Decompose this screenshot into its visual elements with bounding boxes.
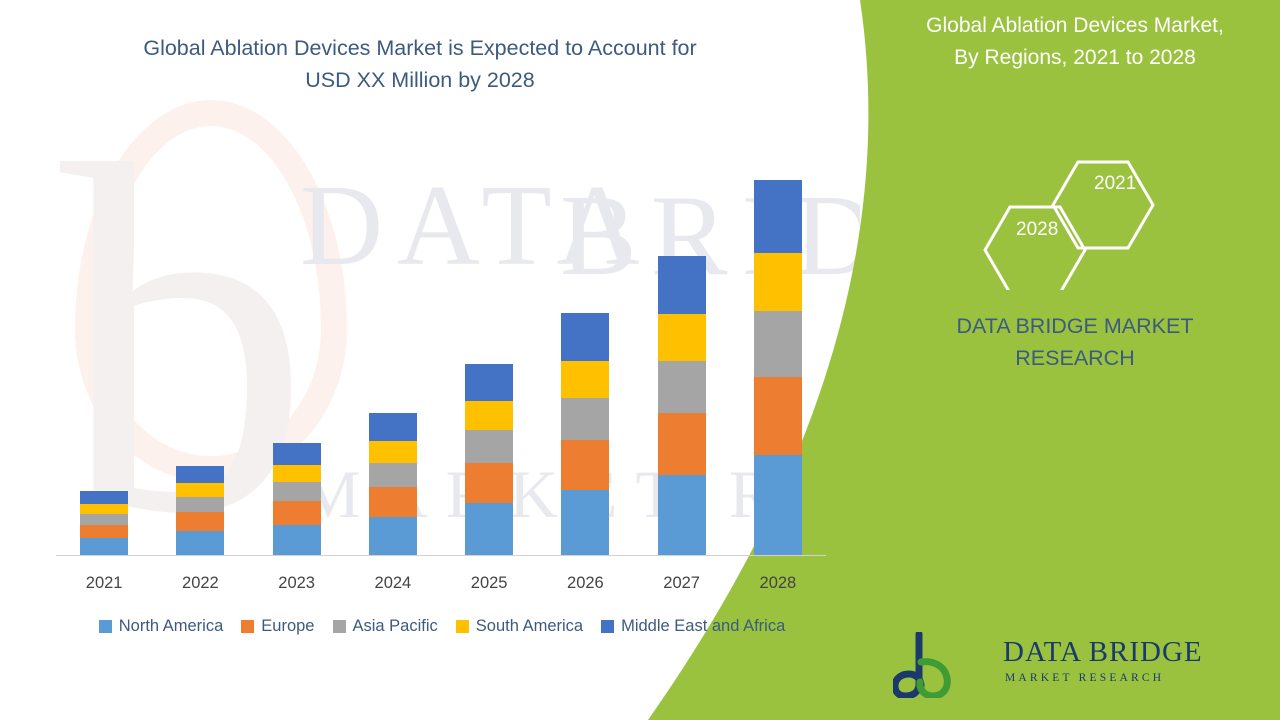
bar-segment[interactable] (80, 491, 128, 504)
legend-swatch-icon (456, 620, 469, 633)
legend-swatch-icon (601, 620, 614, 633)
legend-item[interactable]: South America (456, 617, 583, 636)
bar-segment[interactable] (369, 487, 417, 517)
bar-segment[interactable] (273, 501, 321, 525)
legend-item[interactable]: Middle East and Africa (601, 617, 785, 636)
bar-group[interactable] (465, 364, 513, 555)
legend-label: Asia Pacific (353, 617, 438, 636)
bar-segment[interactable] (176, 466, 224, 483)
bar-segment[interactable] (561, 490, 609, 555)
panel-title-line1: Global Ablation Devices Market, (926, 14, 1224, 37)
bar-segment[interactable] (658, 256, 706, 314)
legend-label: North America (119, 617, 224, 636)
legend-item[interactable]: Europe (241, 617, 314, 636)
bar-group[interactable] (80, 491, 128, 555)
chart-title-line1: Global Ablation Devices Market is Expect… (143, 36, 696, 60)
logo-mark-icon (893, 632, 988, 698)
logo-text: DATA BRIDGE (1003, 636, 1203, 669)
x-axis-tick-label: 2026 (540, 574, 630, 593)
bar-segment[interactable] (176, 483, 224, 497)
bar-group[interactable] (754, 180, 802, 555)
bar-segment[interactable] (176, 531, 224, 555)
x-axis-tick-label: 2022 (155, 574, 245, 593)
bar-chart-plot (56, 150, 826, 556)
bar-segment[interactable] (561, 361, 609, 398)
bar-group[interactable] (176, 466, 224, 555)
x-axis-tick-label: 2025 (444, 574, 534, 593)
x-axis-tick-label: 2021 (59, 574, 149, 593)
legend-label: South America (476, 617, 583, 636)
brand-name-line1: DATA BRIDGE MARKET (957, 314, 1194, 338)
bar-segment[interactable] (561, 398, 609, 440)
bar-segment[interactable] (754, 455, 802, 555)
bar-segment[interactable] (176, 497, 224, 512)
bar-segment[interactable] (273, 465, 321, 482)
bar-segment[interactable] (658, 475, 706, 555)
legend-swatch-icon (333, 620, 346, 633)
bar-group[interactable] (658, 256, 706, 555)
bar-segment[interactable] (754, 253, 802, 311)
legend-item[interactable]: Asia Pacific (333, 617, 438, 636)
bar-segment[interactable] (658, 413, 706, 475)
infographic-slide: b DATA BRIDGE MARKET RESEARCH Global Abl… (0, 0, 1280, 720)
panel-title: Global Ablation Devices Market, By Regio… (880, 10, 1270, 74)
bar-segment[interactable] (369, 517, 417, 555)
x-axis-line (56, 555, 826, 556)
bar-segment[interactable] (80, 525, 128, 538)
bar-group[interactable] (561, 313, 609, 555)
bar-segment[interactable] (754, 311, 802, 376)
hexagon-badges: 2021 2028 (975, 140, 1195, 290)
bar-segment[interactable] (369, 463, 417, 487)
legend-swatch-icon (241, 620, 254, 633)
bar-group[interactable] (369, 413, 417, 555)
bar-segment[interactable] (465, 401, 513, 430)
bar-segment[interactable] (465, 503, 513, 555)
bar-segment[interactable] (465, 364, 513, 401)
legend-swatch-icon (99, 620, 112, 633)
bar-segment[interactable] (465, 430, 513, 463)
bar-group[interactable] (273, 443, 321, 555)
legend-label: Europe (261, 617, 314, 636)
x-axis-labels: 20212022202320242025202620272028 (56, 574, 826, 596)
bar-segment[interactable] (369, 441, 417, 463)
bar-segment[interactable] (754, 180, 802, 253)
legend-label: Middle East and Africa (621, 617, 785, 636)
brand-name: DATA BRIDGE MARKET RESEARCH (905, 310, 1245, 374)
hex-label-2028: 2028 (1016, 219, 1058, 241)
bar-segment[interactable] (273, 525, 321, 555)
chart-legend: North AmericaEuropeAsia PacificSouth Ame… (56, 617, 846, 636)
bar-segment[interactable] (80, 538, 128, 555)
brand-name-line2: RESEARCH (905, 342, 1245, 374)
x-axis-tick-label: 2023 (252, 574, 342, 593)
logo-subtext: MARKET RESEARCH (1005, 672, 1164, 684)
bar-segment[interactable] (273, 443, 321, 465)
bar-segment[interactable] (561, 440, 609, 490)
bar-segment[interactable] (561, 313, 609, 360)
bar-segment[interactable] (273, 482, 321, 501)
bar-segment[interactable] (80, 504, 128, 514)
chart-title-line2: USD XX Million by 2028 (60, 64, 780, 96)
chart-title: Global Ablation Devices Market is Expect… (60, 32, 780, 96)
bar-segment[interactable] (465, 463, 513, 503)
bar-segment[interactable] (658, 361, 706, 413)
bar-segment[interactable] (754, 377, 802, 455)
panel-title-line2: By Regions, 2021 to 2028 (880, 42, 1270, 74)
hex-label-2021: 2021 (1094, 173, 1136, 195)
bar-segment[interactable] (80, 514, 128, 525)
legend-item[interactable]: North America (99, 617, 224, 636)
bar-segment[interactable] (658, 314, 706, 360)
hexagon-shapes (975, 140, 1195, 290)
company-logo: DATA BRIDGE MARKET RESEARCH (893, 632, 1223, 702)
bar-segment[interactable] (369, 413, 417, 441)
x-axis-tick-label: 2027 (637, 574, 727, 593)
bar-segment[interactable] (176, 512, 224, 531)
x-axis-tick-label: 2028 (733, 574, 823, 593)
x-axis-tick-label: 2024 (348, 574, 438, 593)
